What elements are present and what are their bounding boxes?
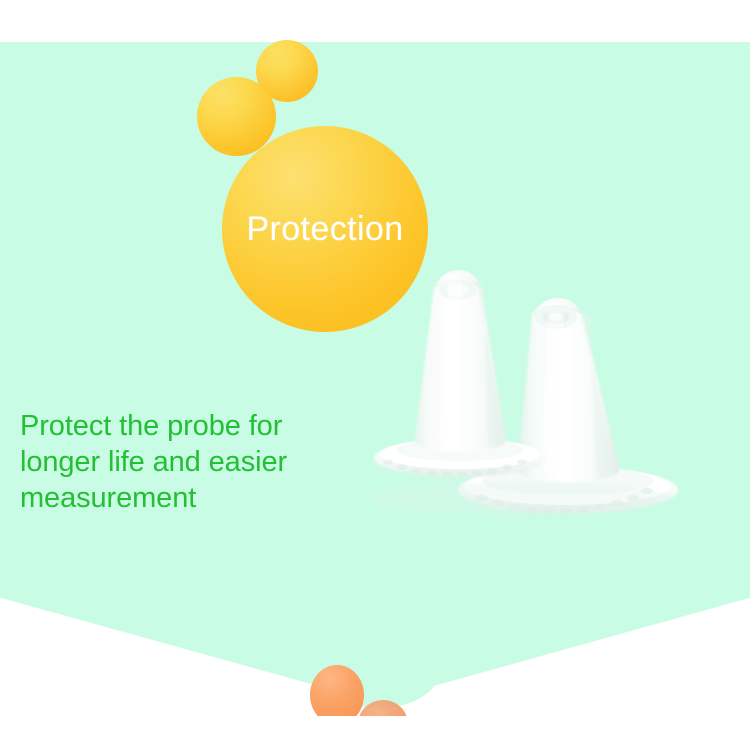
probe-covers-illustration <box>372 262 712 520</box>
copy-line-1: Protect the probe for <box>20 408 360 444</box>
probe-cover-left <box>374 270 546 477</box>
copy-line-3: measurement <box>20 480 360 516</box>
product-image-probe-covers <box>372 262 712 520</box>
bottom-white-strip <box>0 716 750 750</box>
copy-line-2: longer life and easier <box>20 444 360 480</box>
marketing-copy: Protect the probe for longer life and ea… <box>20 408 360 516</box>
product-feature-banner: Protection <box>0 0 750 750</box>
